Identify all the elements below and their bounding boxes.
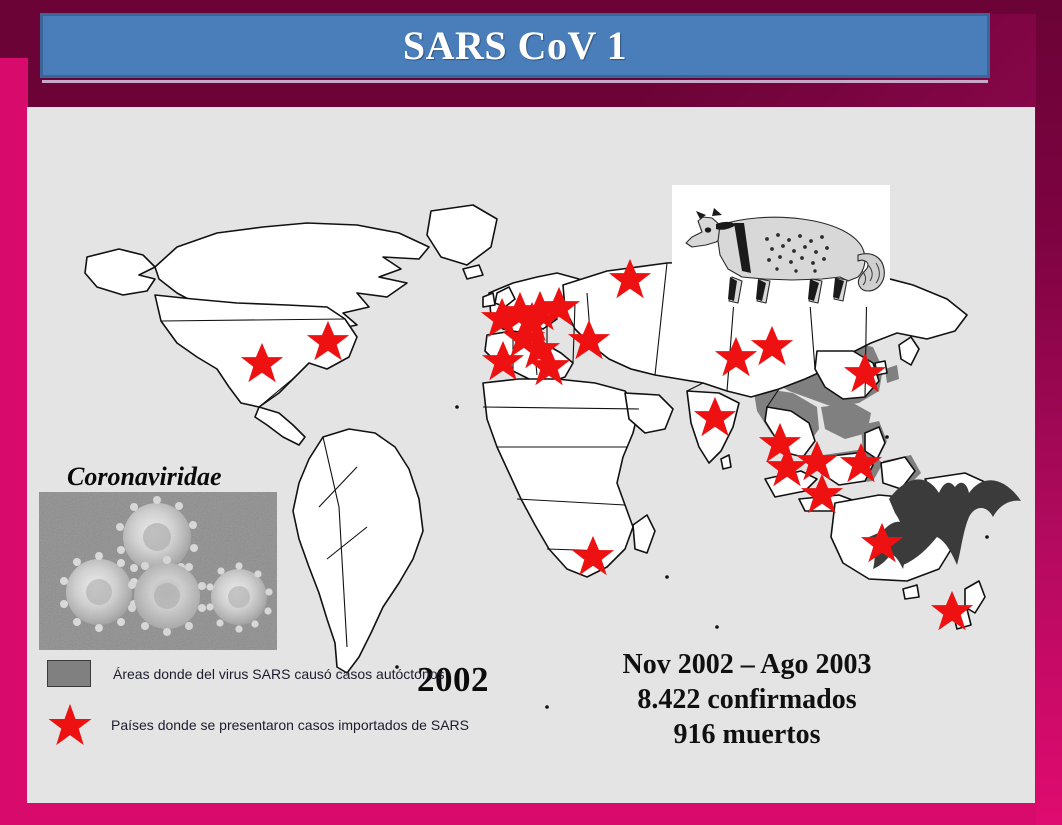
coronaviridae-label: Coronaviridae: [67, 462, 222, 492]
title-underline: [42, 80, 988, 83]
legend-item-label: Países donde se presentaron casos import…: [111, 717, 469, 733]
red-star-icon: [47, 705, 93, 745]
coronavirus-em-image: [39, 492, 277, 650]
slide-root: SARS CoV 1: [0, 0, 1062, 825]
civet-illustration: [672, 185, 890, 307]
stat-deaths: 916 muertos: [532, 717, 962, 752]
legend-item-imported: Países donde se presentaron casos import…: [47, 705, 547, 745]
stat-confirmed: 8.422 confirmados: [532, 682, 962, 717]
frame-bottom-edge: [0, 803, 1062, 825]
frame-top-edge: [0, 0, 1062, 14]
frame-right-edge: [1036, 0, 1062, 825]
civet-drawing: [672, 185, 890, 307]
stat-period: Nov 2002 – Ago 2003: [532, 647, 962, 682]
slide-title-bar: SARS CoV 1: [40, 13, 990, 78]
gray-square-icon: [47, 660, 91, 687]
statistics-block: Nov 2002 – Ago 2003 8.422 confirmados 91…: [532, 647, 962, 752]
map-legend: Áreas donde del virus SARS causó casos a…: [47, 660, 547, 763]
coronavirus-micrograph: [39, 492, 277, 650]
page-title: SARS CoV 1: [403, 22, 627, 69]
legend-item-endemic: Áreas donde del virus SARS causó casos a…: [47, 660, 547, 687]
frame-left-edge: [0, 58, 28, 825]
star-glyph: [47, 703, 93, 747]
legend-item-label: Áreas donde del virus SARS causó casos a…: [113, 666, 445, 682]
content-panel: Coronaviridae: [27, 107, 1035, 803]
